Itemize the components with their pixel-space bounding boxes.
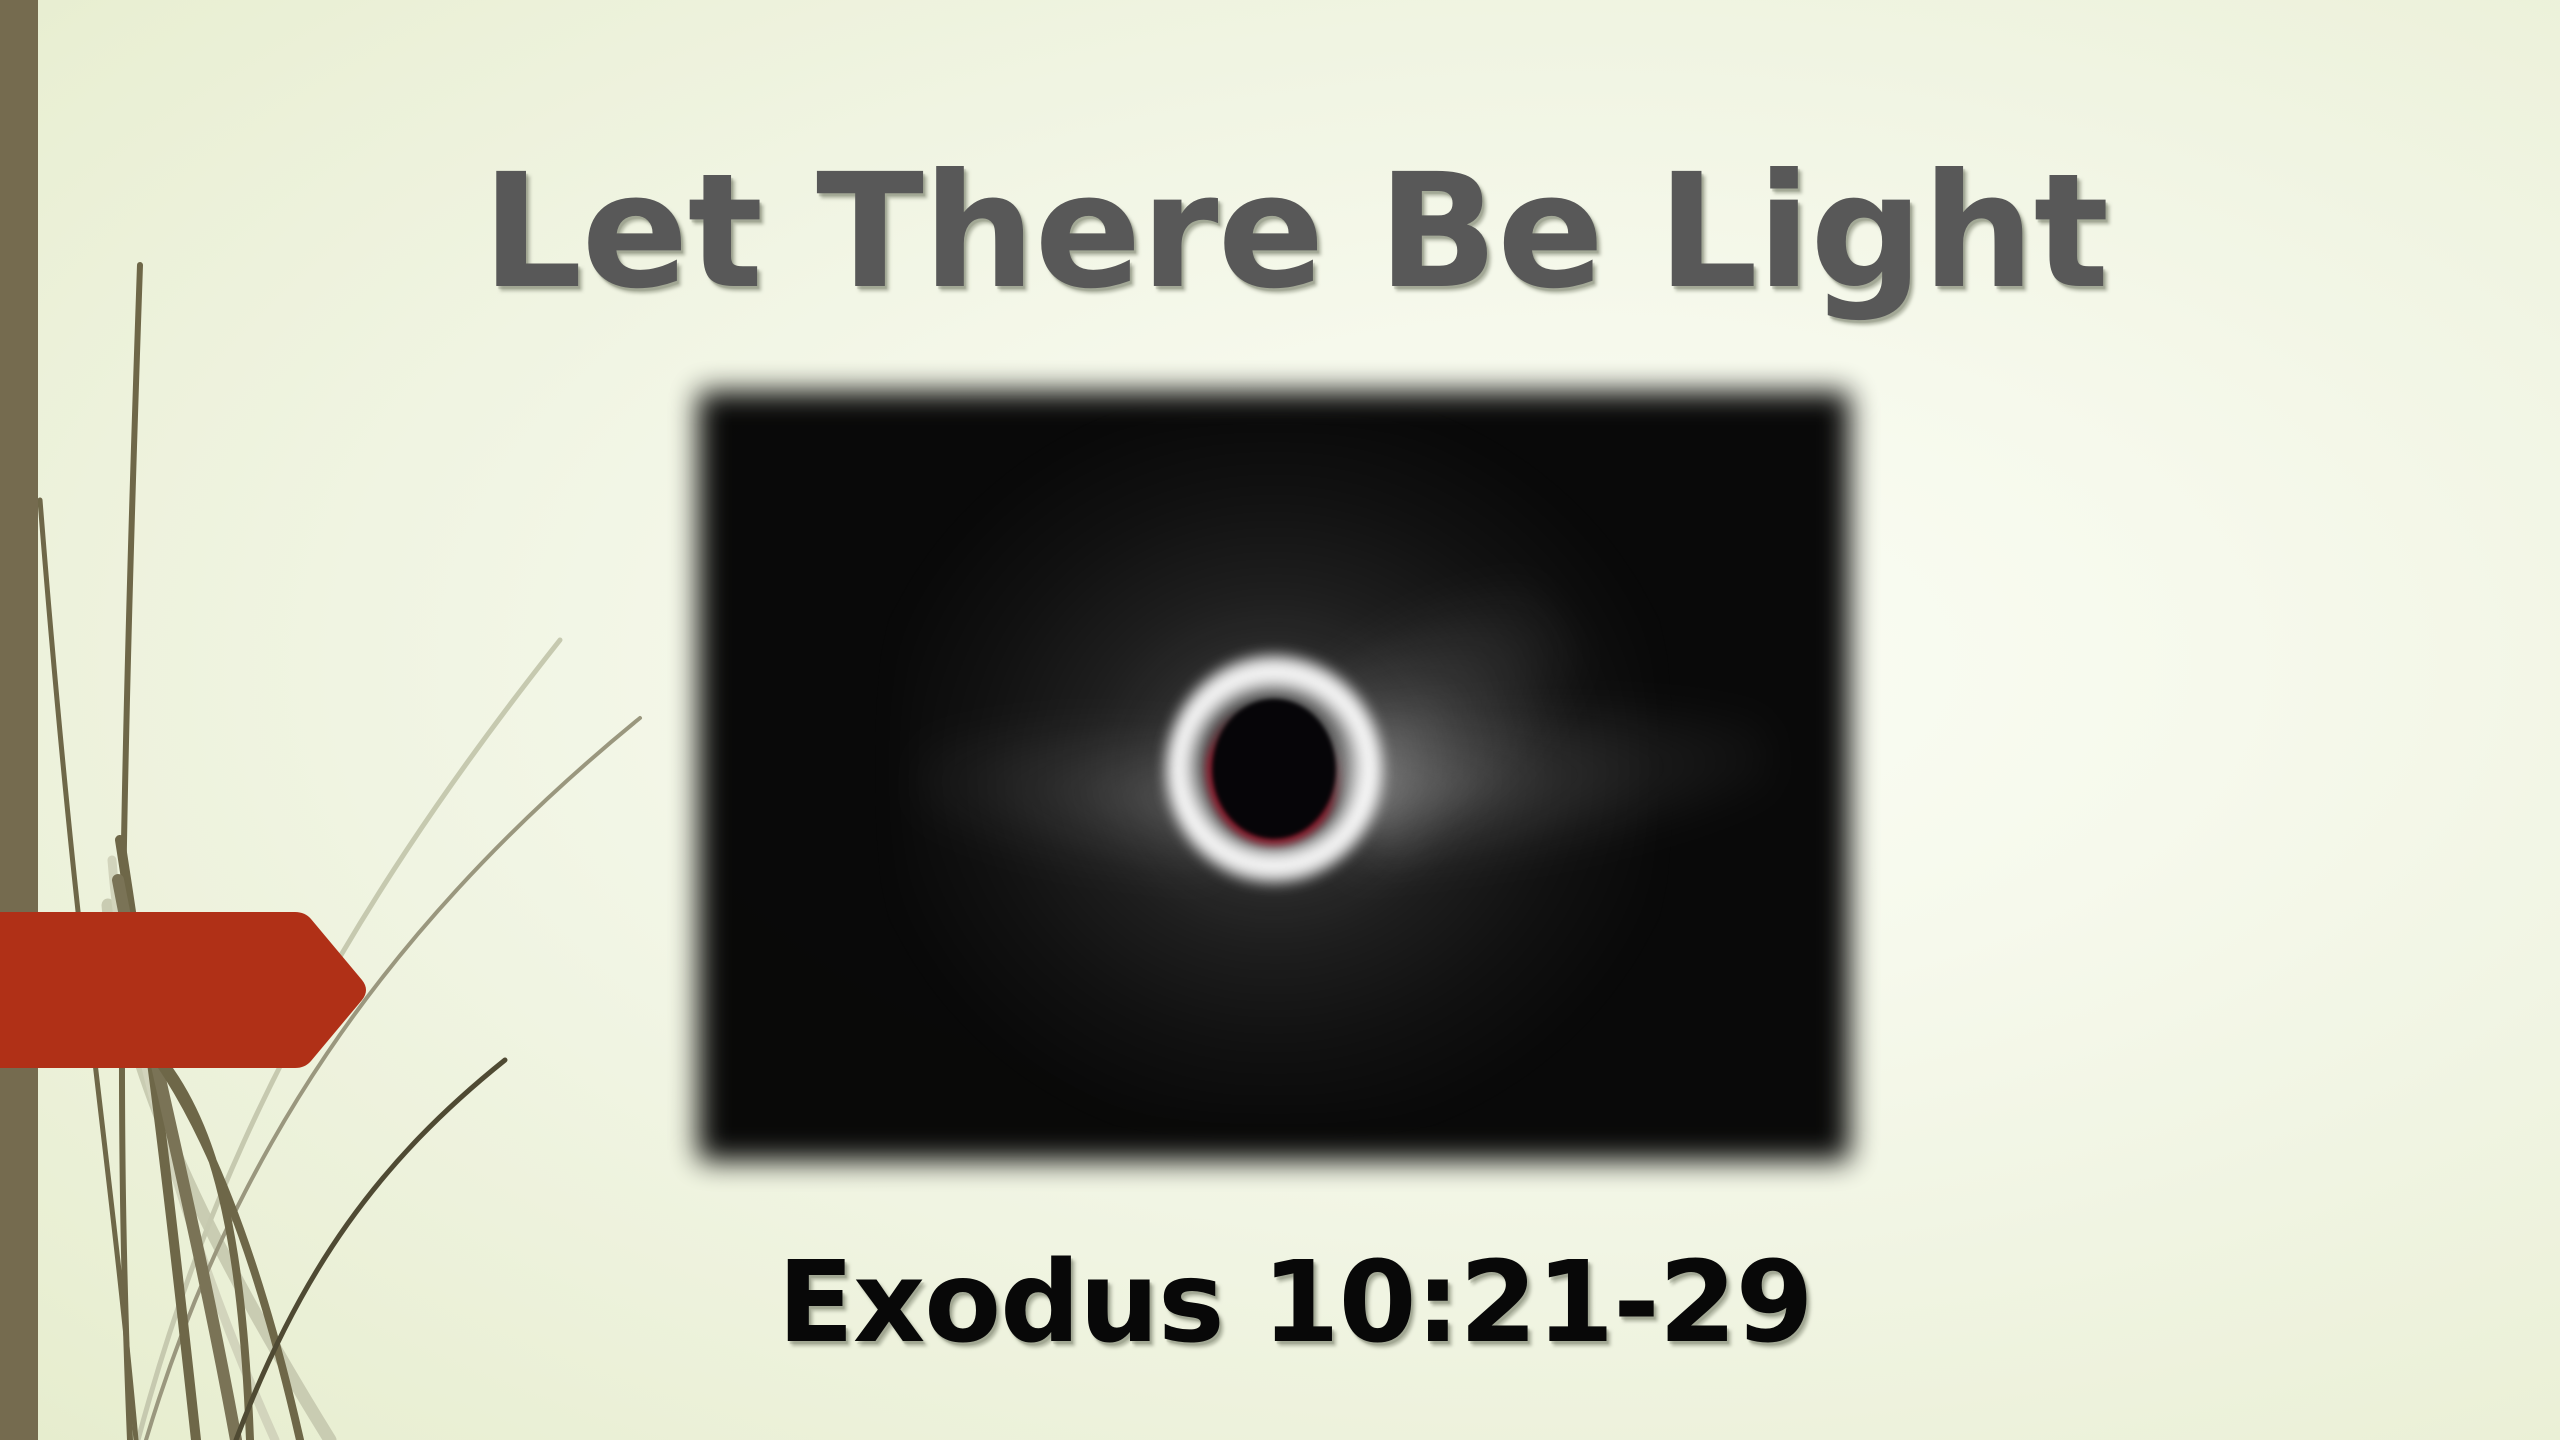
banner-arrow-shape xyxy=(0,912,366,1068)
scripture-reference: Exodus 10:21-29 xyxy=(30,1238,2560,1368)
slide: Let There Be Light Exodus 10:21-29 xyxy=(0,0,2560,1440)
moon-disk xyxy=(1212,699,1336,839)
eclipse-image-canvas xyxy=(712,405,1836,1147)
eclipse-image xyxy=(712,405,1836,1147)
red-arrow-banner xyxy=(0,908,370,1072)
page-title: Let There Be Light xyxy=(30,150,2560,316)
